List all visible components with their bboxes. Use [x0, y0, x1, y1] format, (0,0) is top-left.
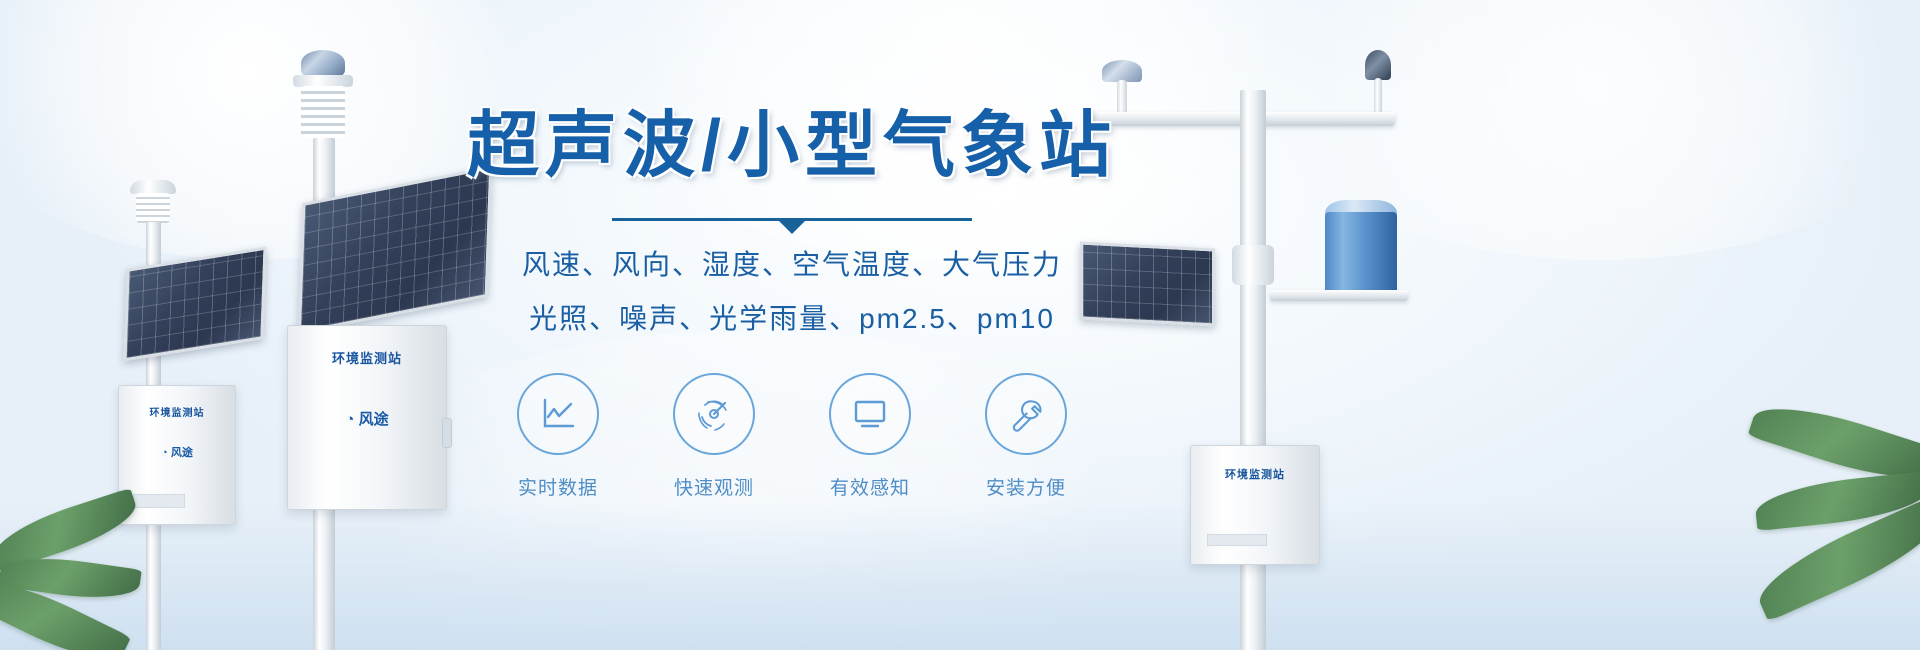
instrument-shelf [1270, 290, 1408, 301]
page-title: 超声波/小型气象站 [452, 110, 1132, 182]
feature-icon-circle [673, 373, 755, 455]
feature-icon-circle [829, 373, 911, 455]
temperature-shield-icon [130, 180, 176, 194]
solar-panel [123, 247, 266, 362]
subtitle-line-2: 光照、噪声、光学雨量、pm2.5、pm10 [452, 297, 1132, 337]
wrench-icon [1005, 393, 1047, 435]
feature-item-fast-observation[interactable]: 快速观测 [659, 373, 769, 500]
station-pole [1240, 90, 1266, 650]
rain-sensor-icon [1365, 50, 1391, 80]
radiation-shield-icon [136, 193, 170, 223]
cabinet-label: 环境监测站 [288, 348, 446, 367]
feature-icon-circle [517, 373, 599, 455]
brand-logo: ◔ 风途 [288, 408, 446, 429]
equipment-cabinet: 环境监测站 ◔ 风途 [287, 325, 447, 510]
cabinet-door-handle [442, 418, 452, 448]
pole-collar [1232, 245, 1274, 285]
brand-name: 风途 [359, 411, 389, 428]
feature-item-effective-sensing[interactable]: 有效感知 [815, 373, 925, 500]
monitor-screen-icon [849, 393, 891, 435]
feature-icon-circle [985, 373, 1067, 455]
feature-list: 实时数据 快速观测 [452, 373, 1132, 500]
ultrasonic-anemometer-icon [1102, 60, 1142, 82]
feature-item-easy-installation[interactable]: 安装方便 [971, 373, 1081, 500]
subtitle-line-1: 风速、风向、湿度、空气温度、大气压力 [452, 243, 1132, 283]
radar-scan-icon [693, 393, 735, 435]
title-divider [612, 218, 972, 221]
equipment-cabinet: 环境监测站 [1190, 445, 1320, 565]
banner-content: 超声波/小型气象站 风速、风向、湿度、空气温度、大气压力 光照、噪声、光学雨量、… [452, 110, 1132, 500]
rain-gauge [1325, 212, 1397, 294]
leaf-decoration-right [1680, 380, 1920, 640]
cabinet-vent [1207, 534, 1267, 546]
feature-label: 实时数据 [503, 473, 613, 500]
ultrasonic-sensor-icon [301, 50, 345, 76]
leaf-decoration-left [0, 450, 190, 650]
brand-mark-icon: ◔ [345, 411, 354, 428]
feature-label: 有效感知 [815, 473, 925, 500]
cabinet-label: 环境监测站 [119, 404, 235, 419]
cabinet-label: 环境监测站 [1191, 466, 1319, 482]
feature-label: 安装方便 [971, 473, 1081, 500]
feature-label: 快速观测 [659, 473, 769, 500]
radiation-shield-icon [301, 86, 345, 138]
line-chart-icon [537, 393, 579, 435]
product-banner: 环境监测站 ◔ 风途 环境监测站 ◔ 风途 [0, 0, 1920, 650]
feature-item-realtime-data[interactable]: 实时数据 [503, 373, 613, 500]
